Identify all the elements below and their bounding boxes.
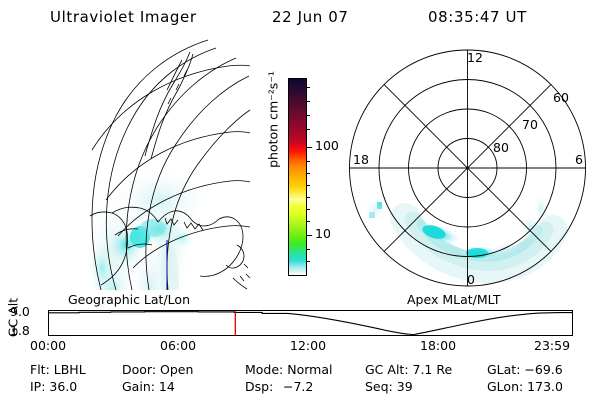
mlat-label-80: 80	[493, 140, 509, 155]
geographic-plot[interactable]	[40, 40, 250, 290]
status-filter: Flt: LBHL	[30, 362, 86, 377]
colorbar-axis-label: photon cm⁻²s⁻¹	[266, 45, 281, 195]
colorbar-minor-tick	[306, 249, 310, 250]
status-door: Door: Open	[122, 362, 193, 377]
colorbar-minor-tick	[306, 185, 310, 186]
colorbar-gradient	[289, 79, 306, 275]
mlt-label-12: 12	[467, 50, 483, 65]
mlat-label-70: 70	[522, 117, 538, 132]
altitude-timeseries-panel[interactable]: Geographic Lat/Lon Apex MLat/MLT GC Alt …	[0, 292, 600, 354]
colorbar: photon cm⁻²s⁻¹	[255, 60, 335, 290]
time-tick-2359: 23:59	[534, 338, 570, 353]
colorbar-minor-tick	[306, 197, 310, 198]
colorbar-minor-tick	[306, 261, 310, 262]
status-glon: GLon: 173.0	[487, 379, 563, 394]
colorbar-major-tick-10	[306, 235, 312, 236]
mlt-label-6: 6	[575, 152, 583, 167]
status-gc-alt: GC Alt: 7.1 Re	[365, 362, 452, 377]
header-bar: Ultraviolet Imager 22 Jun 07 08:35:47 UT	[0, 6, 600, 32]
time-tick-1800: 18:00	[420, 338, 456, 353]
colorbar-major-tick-100	[306, 147, 312, 148]
time-tick-0600: 06:00	[160, 338, 196, 353]
mlat-label-60: 60	[553, 90, 569, 105]
time-tick-1200: 12:00	[290, 338, 326, 353]
colorbar-label-10: 10	[315, 228, 331, 241]
apex-polar-plot[interactable]: 12 6 0 18 60 70 80	[335, 40, 600, 290]
status-seq: Seq: 39	[365, 379, 413, 394]
apex-polar-svg: 12 6 0 18 60 70 80	[335, 40, 600, 290]
colorbar-minor-tick	[306, 209, 310, 210]
colorbar-minor-tick	[306, 161, 310, 162]
altitude-trace-svg	[49, 311, 572, 335]
instrument-title: Ultraviolet Imager	[50, 8, 197, 26]
colorbar-gradient-box	[288, 78, 307, 276]
observation-time: 08:35:47 UT	[428, 8, 527, 26]
colorbar-minor-tick	[306, 101, 310, 102]
colorbar-minor-tick	[306, 115, 310, 116]
aurora-oval-emission	[363, 194, 553, 268]
mlt-spokes	[350, 50, 586, 286]
geographic-plot-svg	[40, 40, 250, 290]
status-dsp-value: −7.2	[283, 379, 313, 394]
time-tick-0000: 00:00	[30, 338, 66, 353]
status-ip: IP: 36.0	[30, 379, 77, 394]
colorbar-minor-tick	[306, 129, 310, 130]
status-gain: Gain: 14	[122, 379, 175, 394]
status-readout: Flt: LBHL Door: Open Mode: Normal GC Alt…	[0, 362, 600, 400]
status-glat: GLat: −69.6	[487, 362, 563, 377]
colorbar-minor-tick	[306, 221, 310, 222]
mlt-label-18: 18	[353, 152, 369, 167]
mlt-label-0: 0	[467, 272, 475, 287]
colorbar-minor-tick	[306, 87, 310, 88]
colorbar-minor-tick	[306, 173, 310, 174]
status-dsp-label: Dsp:	[245, 379, 273, 394]
altitude-plot-box[interactable]	[48, 310, 573, 336]
status-mode: Mode: Normal	[245, 362, 332, 377]
observation-date: 22 Jun 07	[272, 8, 349, 26]
